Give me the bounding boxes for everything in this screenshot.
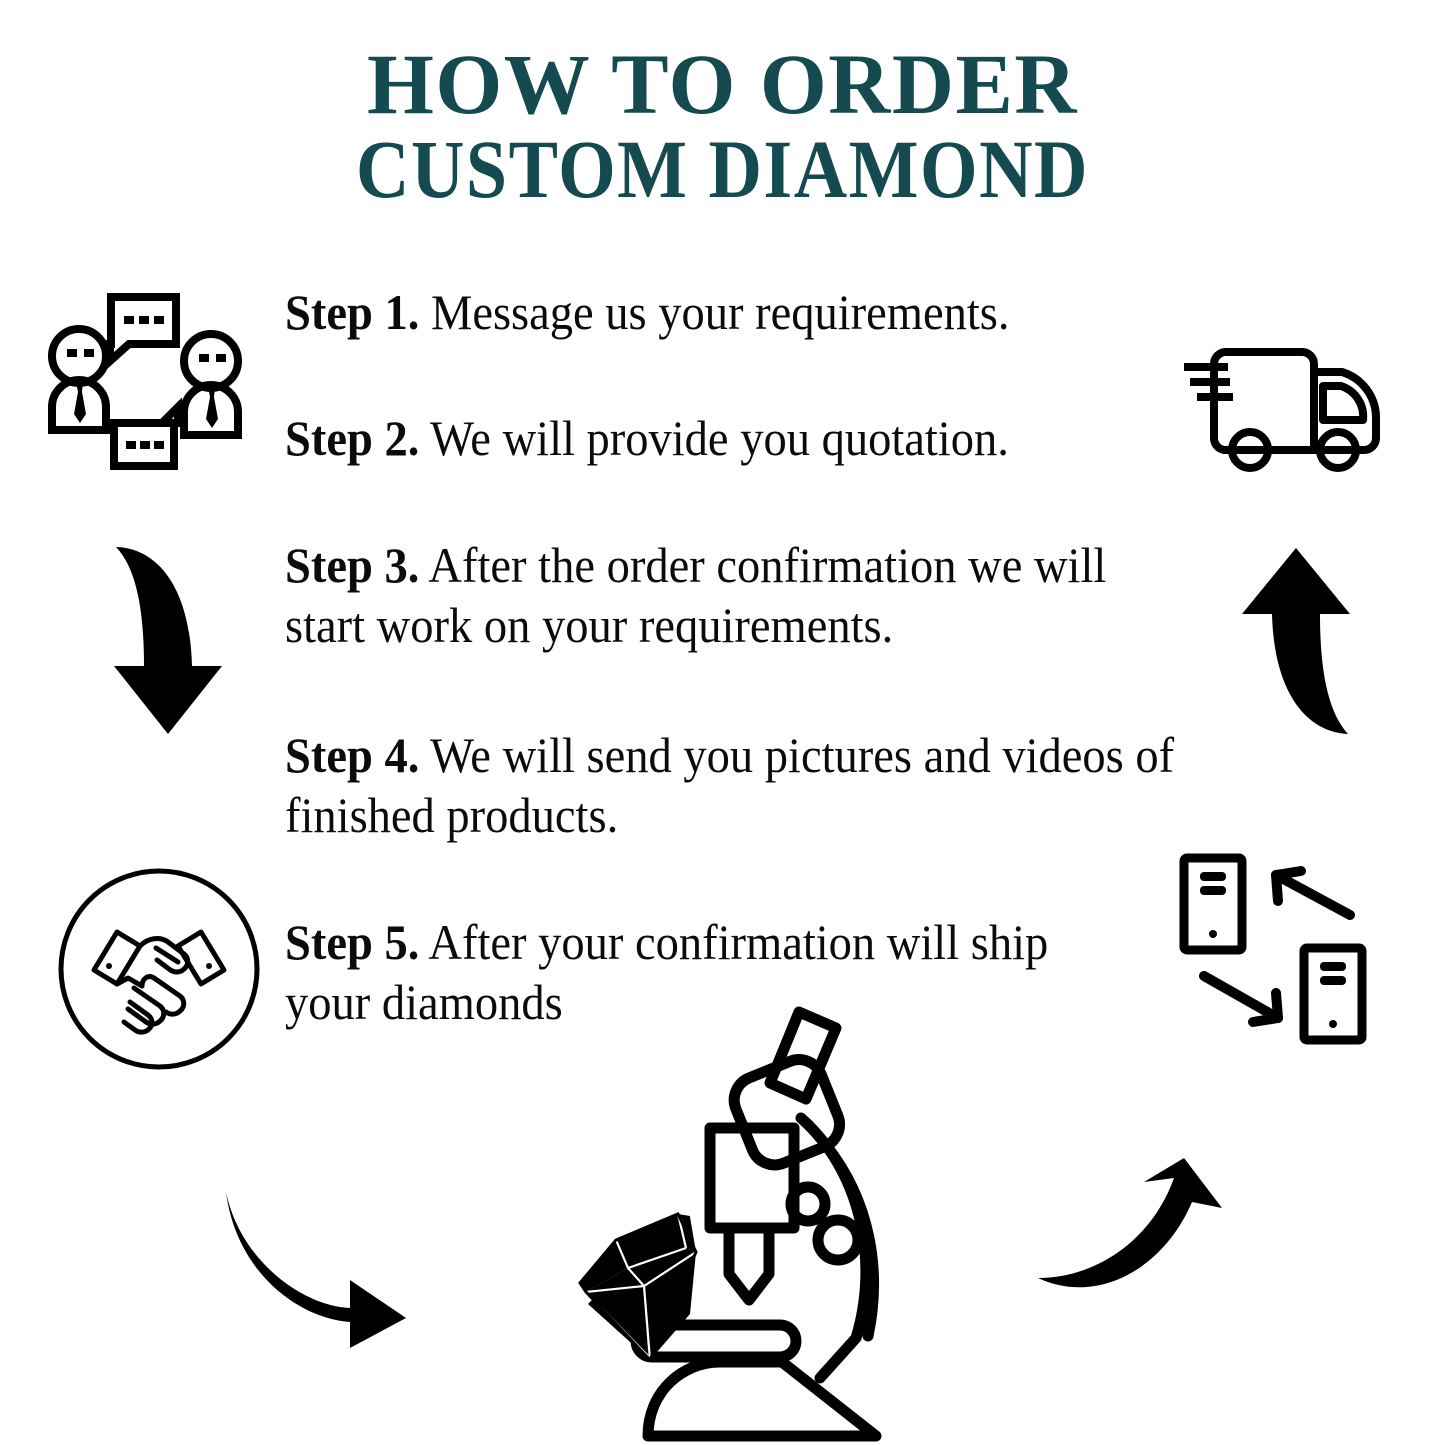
step-item-4: Step 4. We will send you pictures and vi… — [285, 725, 1178, 845]
step-label-3: Step 3. — [285, 537, 419, 593]
step-label-1: Step 1. — [285, 284, 419, 340]
step-label-4: Step 4. — [285, 727, 419, 783]
step-text-4: We will send you pictures and videos of … — [285, 727, 1174, 843]
curved-arrow-right-icon — [210, 1188, 422, 1352]
curved-arrow-up-icon — [1216, 538, 1366, 744]
discussion-people-chat-icon — [36, 283, 254, 473]
step-item-3: Step 3. After the order confirmation we … — [285, 535, 1196, 655]
step-item-1: Step 1. Message us your requirements. — [285, 282, 1196, 342]
step-item-2: Step 2. We will provide you quotation. — [285, 408, 1196, 468]
step-text-2: We will provide you quotation. — [419, 410, 1009, 466]
page-title-line-1: HOW TO ORDER — [0, 42, 1445, 126]
handshake-circle-icon — [56, 866, 262, 1072]
curved-arrow-up-right-icon — [1026, 1156, 1238, 1322]
curved-arrow-down-icon — [98, 538, 250, 742]
phone-exchange-icon — [1162, 848, 1400, 1060]
page-title: HOW TO ORDER CUSTOM DIAMOND — [0, 42, 1445, 203]
step-label-2: Step 2. — [285, 410, 419, 466]
step-text-1: Message us your requirements. — [419, 284, 1009, 340]
step-label-5: Step 5. — [285, 914, 419, 970]
infographic-page: HOW TO ORDER CUSTOM DIAMOND Step 1. Mess… — [0, 0, 1445, 1445]
delivery-truck-icon — [1168, 330, 1400, 482]
microscope-diamond-icon — [520, 1000, 920, 1445]
page-title-line-2: CUSTOM DIAMOND — [0, 130, 1445, 211]
